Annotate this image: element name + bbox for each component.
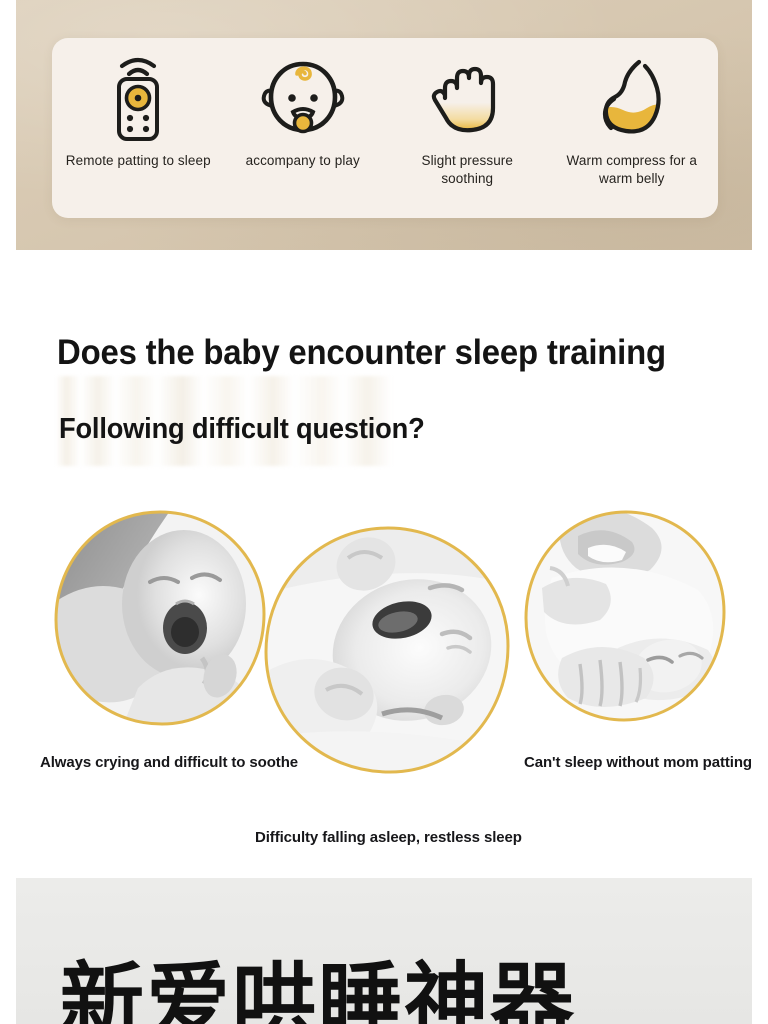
headings-section: Does the baby encounter sleep training F… <box>0 258 768 488</box>
photo-caption-1: Always crying and difficult to soothe <box>40 754 298 771</box>
feature-banner: Remote patting to sleep <box>16 0 752 250</box>
feature-label-remote: Remote patting to sleep <box>66 152 211 170</box>
page-title-line-2: Following difficult question? <box>59 413 425 446</box>
feature-label-baby: accompany to play <box>246 152 360 170</box>
photo-caption-2: Difficulty falling asleep, restless slee… <box>255 829 522 846</box>
bottom-section: 新爱哄睡神器 <box>16 878 752 1024</box>
product-detail-page: Remote patting to sleep <box>0 0 768 1024</box>
baby-face-icon <box>253 50 353 146</box>
feature-item-baby[interactable]: accompany to play <box>221 50 386 170</box>
photo-caption-3: Can't sleep without mom patting <box>524 754 752 771</box>
mother-patting-baby-photo <box>522 508 728 724</box>
bottom-title-chinese: 新爱哄睡神器 <box>60 960 576 1024</box>
open-palm-hand-icon <box>427 50 507 146</box>
feature-label-stomach: Warm compress for a warm belly <box>559 152 704 188</box>
feature-item-remote[interactable]: Remote patting to sleep <box>56 50 221 170</box>
feature-card: Remote patting to sleep <box>52 38 718 218</box>
feature-label-hand: Slight pressure soothing <box>395 152 540 188</box>
remote-control-icon <box>104 50 172 146</box>
photo-collage-section: Always crying and difficult to soothe Di… <box>0 488 768 878</box>
stomach-icon <box>589 50 675 146</box>
page-title-line-1: Does the baby encounter sleep training <box>57 333 666 373</box>
restless-baby-photo <box>262 524 512 776</box>
crying-baby-photo <box>52 508 268 728</box>
feature-item-hand[interactable]: Slight pressure soothing <box>385 50 550 188</box>
feature-item-stomach[interactable]: Warm compress for a warm belly <box>550 50 715 188</box>
